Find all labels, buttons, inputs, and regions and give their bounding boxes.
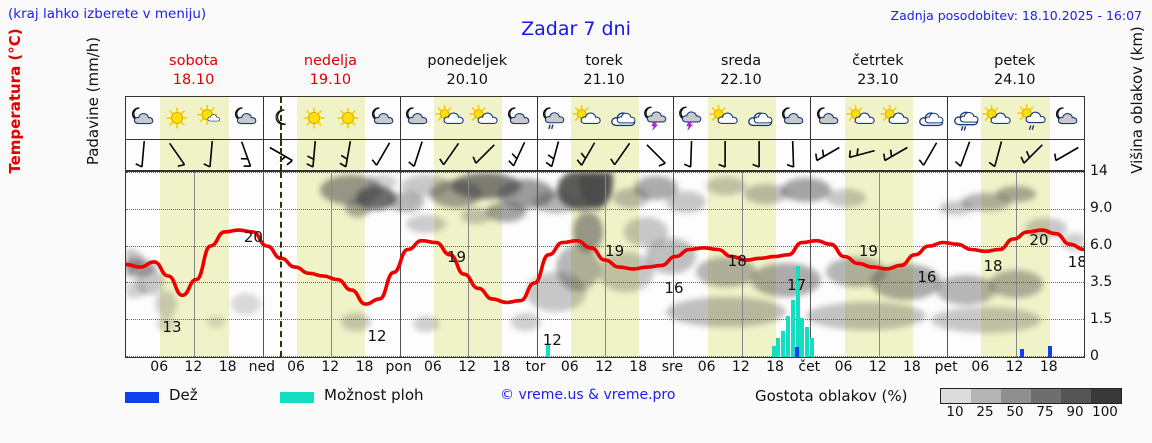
wind-barb — [708, 140, 742, 170]
time-tick-čet: čet — [798, 359, 820, 375]
cloud-density-scale-label: 75 — [1036, 404, 1053, 420]
wind-barb — [366, 140, 400, 170]
cloud-density-scale-label: 25 — [976, 404, 993, 420]
time-tick-12: 12 — [595, 359, 613, 375]
showers-legend-swatch — [280, 392, 314, 403]
rain-legend-label: Dež — [169, 386, 198, 404]
wind-barb — [229, 140, 263, 170]
weather-icon-sun-cloud-drizzle — [1016, 97, 1050, 139]
weather-icon-moon-cloud — [502, 97, 536, 139]
temperature-value-label: 20 — [244, 228, 263, 246]
showers-legend-label: Možnost ploh — [324, 386, 424, 404]
temperature-curve — [126, 172, 1084, 357]
temperature-value-label: 19 — [605, 242, 624, 260]
wind-barb — [776, 140, 810, 170]
cloud-density-scale-label: 10 — [946, 404, 963, 420]
weather-icon-sun-cloud — [981, 97, 1015, 139]
temperature-value-label: 17 — [787, 276, 806, 294]
day-name: petek — [946, 52, 1083, 71]
temperature-value-label: 19 — [447, 248, 466, 266]
weather-icon-cloud-drizzle — [947, 97, 981, 139]
time-tick-18: 18 — [903, 359, 921, 375]
time-tick-06: 06 — [971, 359, 989, 375]
day-name: sreda — [672, 52, 809, 71]
cloud-density-step-100 — [1091, 389, 1121, 403]
time-tick-18: 18 — [629, 359, 647, 375]
weather-icon-sun-cloud — [879, 97, 913, 139]
temperature-value-label: 16 — [917, 268, 936, 286]
weather-icon-cloud — [605, 97, 639, 139]
cloud-height-tick: 1.5 — [1090, 311, 1112, 327]
day-header-četrtek: četrtek23.10 — [809, 52, 946, 90]
cloud-density-step-50 — [1001, 389, 1031, 403]
wind-barb — [434, 140, 468, 170]
current-time-marker-icons — [280, 97, 282, 139]
weather-icon-sun-cloud-small — [194, 97, 228, 139]
current-time-marker — [280, 172, 282, 357]
wind-barb — [673, 140, 707, 170]
day-date: 21.10 — [536, 71, 673, 90]
last-update-label: Zadnja posodobitev: 18.10.2025 - 16:07 — [891, 8, 1142, 23]
cloud-height-tick: 3.5 — [1090, 274, 1112, 290]
wind-barb — [947, 140, 981, 170]
time-tick-18: 18 — [219, 359, 237, 375]
day-date: 20.10 — [399, 71, 536, 90]
day-header-ponedeljek: ponedeljek20.10 — [399, 52, 536, 90]
day-date: 22.10 — [672, 71, 809, 90]
day-name: torek — [536, 52, 673, 71]
time-tick-18: 18 — [1040, 359, 1058, 375]
weather-icon-sun — [160, 97, 194, 139]
wind-barb — [400, 140, 434, 170]
time-tick-06: 06 — [835, 359, 853, 375]
time-tick-sre: sre — [662, 359, 683, 375]
weather-icon-sun — [297, 97, 331, 139]
weather-icon-cloud — [913, 97, 947, 139]
time-tick-06: 06 — [150, 359, 168, 375]
cloud-height-tick: 6.0 — [1090, 237, 1112, 253]
day-header-strip: sobota18.10nedelja19.10ponedeljek20.10to… — [125, 52, 1085, 94]
day-header-petek: petek24.10 — [946, 52, 1083, 90]
temperature-axis-title: Temperatura (°C) — [6, 16, 24, 186]
wind-barb — [1050, 140, 1084, 170]
wind-barb — [742, 140, 776, 170]
time-tick-12: 12 — [1006, 359, 1024, 375]
weather-icon-moon-cloud — [229, 97, 263, 139]
wind-barb — [502, 140, 536, 170]
day-name: četrtek — [809, 52, 946, 71]
weather-icon-moon-cloud — [126, 97, 160, 139]
cloud-density-color-scale — [940, 388, 1122, 404]
wind-barb-row — [125, 140, 1085, 171]
cloud-height-tick: 0 — [1090, 348, 1099, 364]
temperature-value-label: 19 — [859, 242, 878, 260]
time-tick-06: 06 — [424, 359, 442, 375]
cloud-height-axis-title: Višina oblakov (km) — [1128, 14, 1146, 186]
day-date: 23.10 — [809, 71, 946, 90]
cloud-density-step-10 — [941, 389, 971, 403]
time-tick-18: 18 — [492, 359, 510, 375]
day-name: sobota — [125, 52, 262, 71]
cloud-density-step-75 — [1031, 389, 1061, 403]
weather-icon-moon-cloud — [1050, 97, 1084, 139]
time-tick-06: 06 — [561, 359, 579, 375]
wind-barb — [810, 140, 844, 170]
weather-icon-sun-cloud — [571, 97, 605, 139]
time-tick-12: 12 — [458, 359, 476, 375]
time-tick-06: 06 — [698, 359, 716, 375]
day-header-nedelja: nedelja19.10 — [262, 52, 399, 90]
cloud-height-tick: 14 — [1090, 163, 1108, 179]
wind-barb — [331, 140, 365, 170]
wind-barb — [297, 140, 331, 170]
wind-barb — [913, 140, 947, 170]
time-tick-18: 18 — [766, 359, 784, 375]
temperature-value-label: 12 — [543, 331, 562, 349]
weather-icon-cloud — [742, 97, 776, 139]
weather-icon-moon-cloud — [366, 97, 400, 139]
time-tick-12: 12 — [321, 359, 339, 375]
time-axis-labels: 061218ned061218pon061218tor061218sre0612… — [125, 359, 1085, 381]
day-date: 18.10 — [125, 71, 262, 90]
day-header-torek: torek21.10 — [536, 52, 673, 90]
weather-icon-sun — [331, 97, 365, 139]
time-tick-12: 12 — [732, 359, 750, 375]
cloud-density-step-25 — [971, 389, 1001, 403]
temperature-value-label: 18 — [983, 257, 1002, 275]
day-name: ponedeljek — [399, 52, 536, 71]
precipitation-axis-title: Padavine (mm/h) — [84, 16, 102, 186]
time-tick-pet: pet — [935, 359, 958, 375]
time-tick-ned: ned — [249, 359, 275, 375]
wind-barb — [126, 140, 160, 170]
temperature-value-label: 18 — [728, 252, 747, 270]
wind-barb — [571, 140, 605, 170]
time-tick-12: 12 — [185, 359, 203, 375]
day-date: 19.10 — [262, 71, 399, 90]
wind-barb — [981, 140, 1015, 170]
temperature-value-label: 13 — [162, 318, 181, 336]
time-tick-06: 06 — [287, 359, 305, 375]
weather-icon-moon-cloud — [776, 97, 810, 139]
weather-icon-moon-cloud-drizzle — [537, 97, 571, 139]
weather-icon-moon-cloud-storm — [673, 97, 707, 139]
weather-icon-moon-cloud — [810, 97, 844, 139]
wind-barb — [1016, 140, 1050, 170]
wind-barb — [879, 140, 913, 170]
temperature-value-label: 18 — [1068, 253, 1085, 271]
cloud-density-scale-label: 50 — [1006, 404, 1023, 420]
cloud-density-scale-label: 90 — [1066, 404, 1083, 420]
weather-icon-sun-cloud — [845, 97, 879, 139]
weather-icon-row — [125, 96, 1085, 140]
current-time-marker-wind — [280, 140, 282, 170]
day-header-sobota: sobota18.10 — [125, 52, 262, 90]
temperature-value-label: 20 — [1029, 231, 1048, 249]
cloud-height-tick: 9.0 — [1090, 200, 1112, 216]
wind-barb — [605, 140, 639, 170]
temperature-value-label: 12 — [367, 327, 386, 345]
temperature-value-label: 16 — [664, 279, 683, 297]
cloud-density-scale-label: 100 — [1092, 404, 1118, 420]
day-date: 24.10 — [946, 71, 1083, 90]
wind-barb — [639, 140, 673, 170]
day-name: nedelja — [262, 52, 399, 71]
copyright-link[interactable]: © vreme.us & vreme.pro — [500, 387, 675, 403]
chart-legend: Dež Možnost ploh © vreme.us & vreme.pro … — [125, 386, 1145, 426]
wind-barb — [160, 140, 194, 170]
wind-barb — [194, 140, 228, 170]
wind-barb — [845, 140, 879, 170]
time-tick-18: 18 — [356, 359, 374, 375]
wind-barb — [468, 140, 502, 170]
wind-barb — [537, 140, 571, 170]
weather-icon-sun-cloud — [434, 97, 468, 139]
time-tick-pon: pon — [386, 359, 412, 375]
weather-icon-moon-cloud — [400, 97, 434, 139]
cloud-density-legend-title: Gostota oblakov (%) — [755, 387, 908, 405]
weather-icon-sun-cloud — [468, 97, 502, 139]
time-tick-tor: tor — [526, 359, 546, 375]
cloud-density-step-90 — [1061, 389, 1091, 403]
weather-icon-sun-cloud — [708, 97, 742, 139]
time-tick-12: 12 — [869, 359, 887, 375]
day-header-sreda: sreda22.10 — [672, 52, 809, 90]
weather-icon-moon-cloud-storm — [639, 97, 673, 139]
forecast-plot[interactable]: 1320121912191618171916182018 — [125, 171, 1085, 358]
rain-legend-swatch — [125, 392, 159, 403]
